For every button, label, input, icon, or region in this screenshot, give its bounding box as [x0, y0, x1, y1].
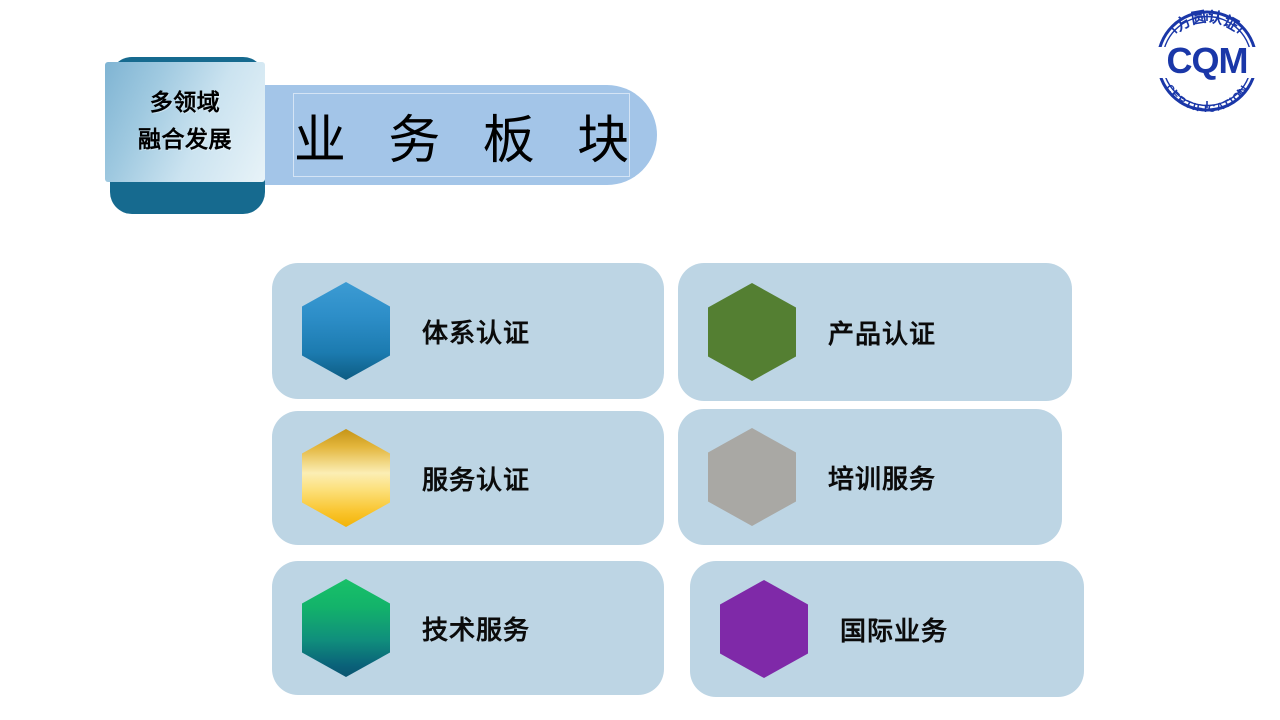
hexagon-icon-wrap — [720, 580, 808, 678]
slide-canvas: 多领域 融合发展 业 务 板 块 — [0, 0, 1280, 720]
hexagon-icon — [708, 428, 796, 526]
segment-card[interactable]: 技术服务 — [272, 561, 664, 695]
hexagon-icon-wrap — [708, 428, 796, 526]
hexagon-icon-wrap — [302, 282, 390, 380]
hexagon-icon — [302, 579, 390, 677]
business-segments-grid: 体系认证 产品认证 服务认证 培训服务 技术服务 — [0, 0, 1280, 720]
segment-label: 技术服务 — [422, 610, 530, 647]
hexagon-icon — [302, 282, 390, 380]
hexagon-icon-wrap — [708, 283, 796, 381]
hexagon-icon — [302, 429, 390, 527]
segment-card[interactable]: 培训服务 — [678, 409, 1062, 545]
hexagon-icon-wrap — [302, 429, 390, 527]
segment-card[interactable]: 产品认证 — [678, 263, 1072, 401]
segment-label: 体系认证 — [422, 313, 530, 350]
segment-label: 服务认证 — [422, 460, 530, 497]
segment-label: 产品认证 — [828, 314, 936, 351]
hexagon-icon-wrap — [302, 579, 390, 677]
hexagon-icon — [720, 580, 808, 678]
segment-label: 培训服务 — [828, 459, 936, 496]
hexagon-icon — [708, 283, 796, 381]
segment-label: 国际业务 — [840, 611, 948, 648]
segment-card[interactable]: 服务认证 — [272, 411, 664, 545]
segment-card[interactable]: 体系认证 — [272, 263, 664, 399]
segment-card[interactable]: 国际业务 — [690, 561, 1084, 697]
